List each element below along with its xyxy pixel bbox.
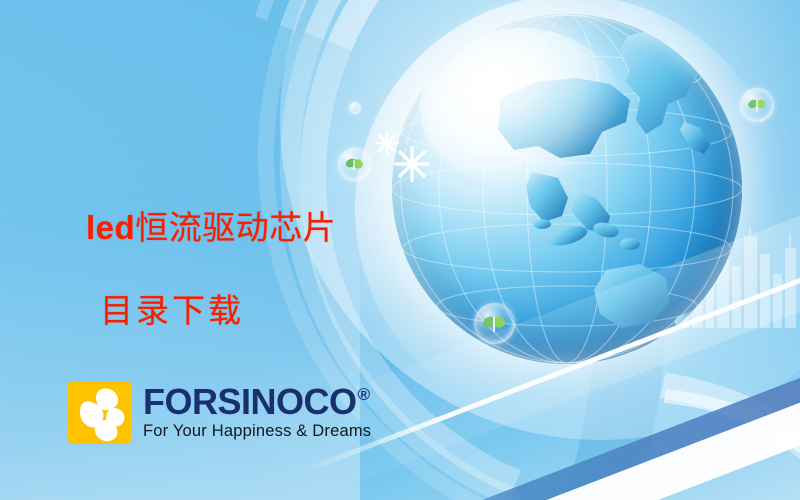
forsinoco-petal-mark-icon bbox=[68, 381, 131, 444]
banner-canvas: led恒流驱动芯片 目录下载 FORSINOCO® For Your Happi… bbox=[0, 0, 800, 500]
logo-tagline: For Your Happiness & Dreams bbox=[143, 422, 371, 441]
logo-wordmark-block: FORSINOCO® For Your Happiness & Dreams bbox=[143, 384, 371, 440]
registered-trademark-icon: ® bbox=[358, 386, 370, 403]
headline-line-2: 目录下载 bbox=[100, 290, 506, 332]
headline-line-1: led恒流驱动芯片 bbox=[86, 207, 506, 249]
headline-text: led恒流驱动芯片 目录下载 bbox=[86, 166, 506, 373]
logo-wordmark: FORSINOCO® bbox=[143, 384, 371, 419]
logo-name-text: FORSINOCO bbox=[143, 384, 357, 419]
brand-logo: FORSINOCO® For Your Happiness & Dreams bbox=[68, 381, 371, 444]
headline-latin: led bbox=[86, 209, 135, 246]
headline-cjk: 恒流驱动芯片 bbox=[135, 208, 336, 247]
